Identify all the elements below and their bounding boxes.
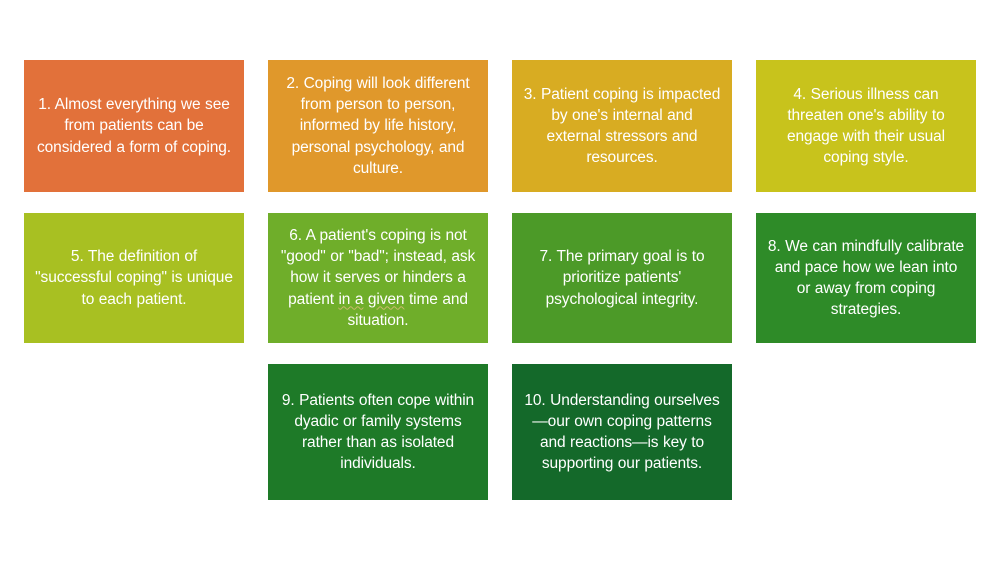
principle-card-8[interactable]: 8. We can mindfully calibrate and pace h… [756,213,976,343]
principle-card-7[interactable]: 7. The primary goal is to prioritize pat… [512,213,732,343]
spellcheck-underline-given: given [368,291,405,308]
principle-card-10[interactable]: 10. Understanding ourselves—our own copi… [512,364,732,500]
principle-card-5[interactable]: 5. The definition of "successful coping"… [24,213,244,343]
spellcheck-underline-in-a: in a [338,291,363,308]
principle-card-2-text: 2. Coping will look different from perso… [278,73,478,178]
principle-card-3[interactable]: 3. Patient coping is impacted by one's i… [512,60,732,192]
principle-card-8-text: 8. We can mindfully calibrate and pace h… [766,236,966,320]
principle-card-3-text: 3. Patient coping is impacted by one's i… [522,84,722,168]
principle-card-4[interactable]: 4. Serious illness can threaten one's ab… [756,60,976,192]
principle-card-9-text: 9. Patients often cope within dyadic or … [278,390,478,474]
coping-principles-grid: 1. Almost everything we see from patient… [24,60,976,500]
principle-card-6[interactable]: 6. A patient's coping is not "good" or "… [268,213,488,343]
principle-card-9[interactable]: 9. Patients often cope within dyadic or … [268,364,488,500]
principle-card-5-text: 5. The definition of "successful coping"… [34,246,234,309]
principle-card-6-text: 6. A patient's coping is not "good" or "… [278,225,478,330]
principle-card-4-text: 4. Serious illness can threaten one's ab… [766,84,966,168]
principle-card-2[interactable]: 2. Coping will look different from perso… [268,60,488,192]
principle-card-7-text: 7. The primary goal is to prioritize pat… [522,246,722,309]
slide-canvas: 1. Almost everything we see from patient… [0,0,1000,585]
principle-card-1[interactable]: 1. Almost everything we see from patient… [24,60,244,192]
principle-card-1-text: 1. Almost everything we see from patient… [34,94,234,157]
principle-card-10-text: 10. Understanding ourselves—our own copi… [522,390,722,474]
